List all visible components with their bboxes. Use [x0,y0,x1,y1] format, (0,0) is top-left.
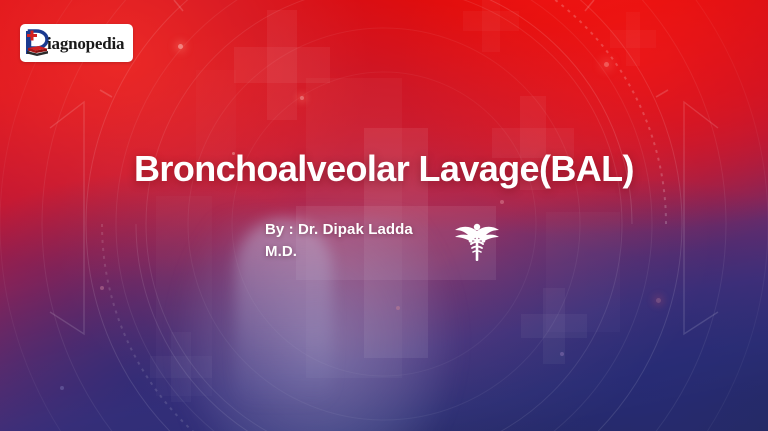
medical-cross-icon [521,288,587,364]
background-speck [560,352,564,356]
medical-cross-icon [463,0,519,52]
background-speck [656,298,661,303]
background-rectangle [156,196,212,396]
medical-cross-icon [610,12,656,66]
medical-cross-icon [150,332,212,402]
background-center-haze [4,0,764,431]
background-speck [178,44,183,49]
background-rectangle [546,212,620,332]
background-speck [300,96,304,100]
slide-byline: By : Dr. Dipak Ladda M.D. [265,219,501,265]
background-glow-bottom-left [0,171,400,431]
byline-text: By : Dr. Dipak Ladda M.D. [265,219,445,263]
background-speck [396,306,400,310]
background-speck [500,200,504,204]
medical-cross-icon [234,10,330,120]
background-speck [604,62,609,67]
slide-title: Bronchoalveolar Lavage(BAL) [0,148,768,190]
presentation-title-slide: iagnopedia Bronchoalveolar Lavage(BAL) B… [0,0,768,431]
logo-wordmark: iagnopedia [47,35,124,52]
background-speck [100,286,104,290]
caduceus-icon [453,221,501,265]
diagnopedia-logo[interactable]: iagnopedia [20,24,133,62]
background-tech-rings [0,0,768,431]
background-speck [60,386,64,390]
